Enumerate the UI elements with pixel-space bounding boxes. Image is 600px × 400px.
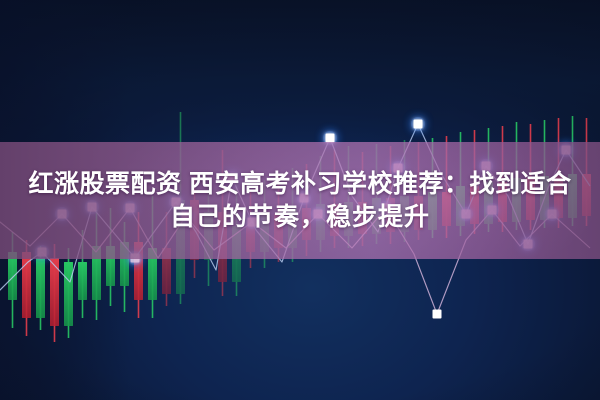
banner-image: 红涨股票配资 西安高考补习学校推荐：找到适合 自己的节奏，稳步提升 <box>0 0 600 400</box>
headline-block: 红涨股票配资 西安高考补习学校推荐：找到适合 自己的节奏，稳步提升 <box>0 142 600 259</box>
headline-line-1: 红涨股票配资 西安高考补习学校推荐：找到适合 <box>29 171 572 197</box>
headline-line-2: 自己的节奏，稳步提升 <box>170 204 430 230</box>
